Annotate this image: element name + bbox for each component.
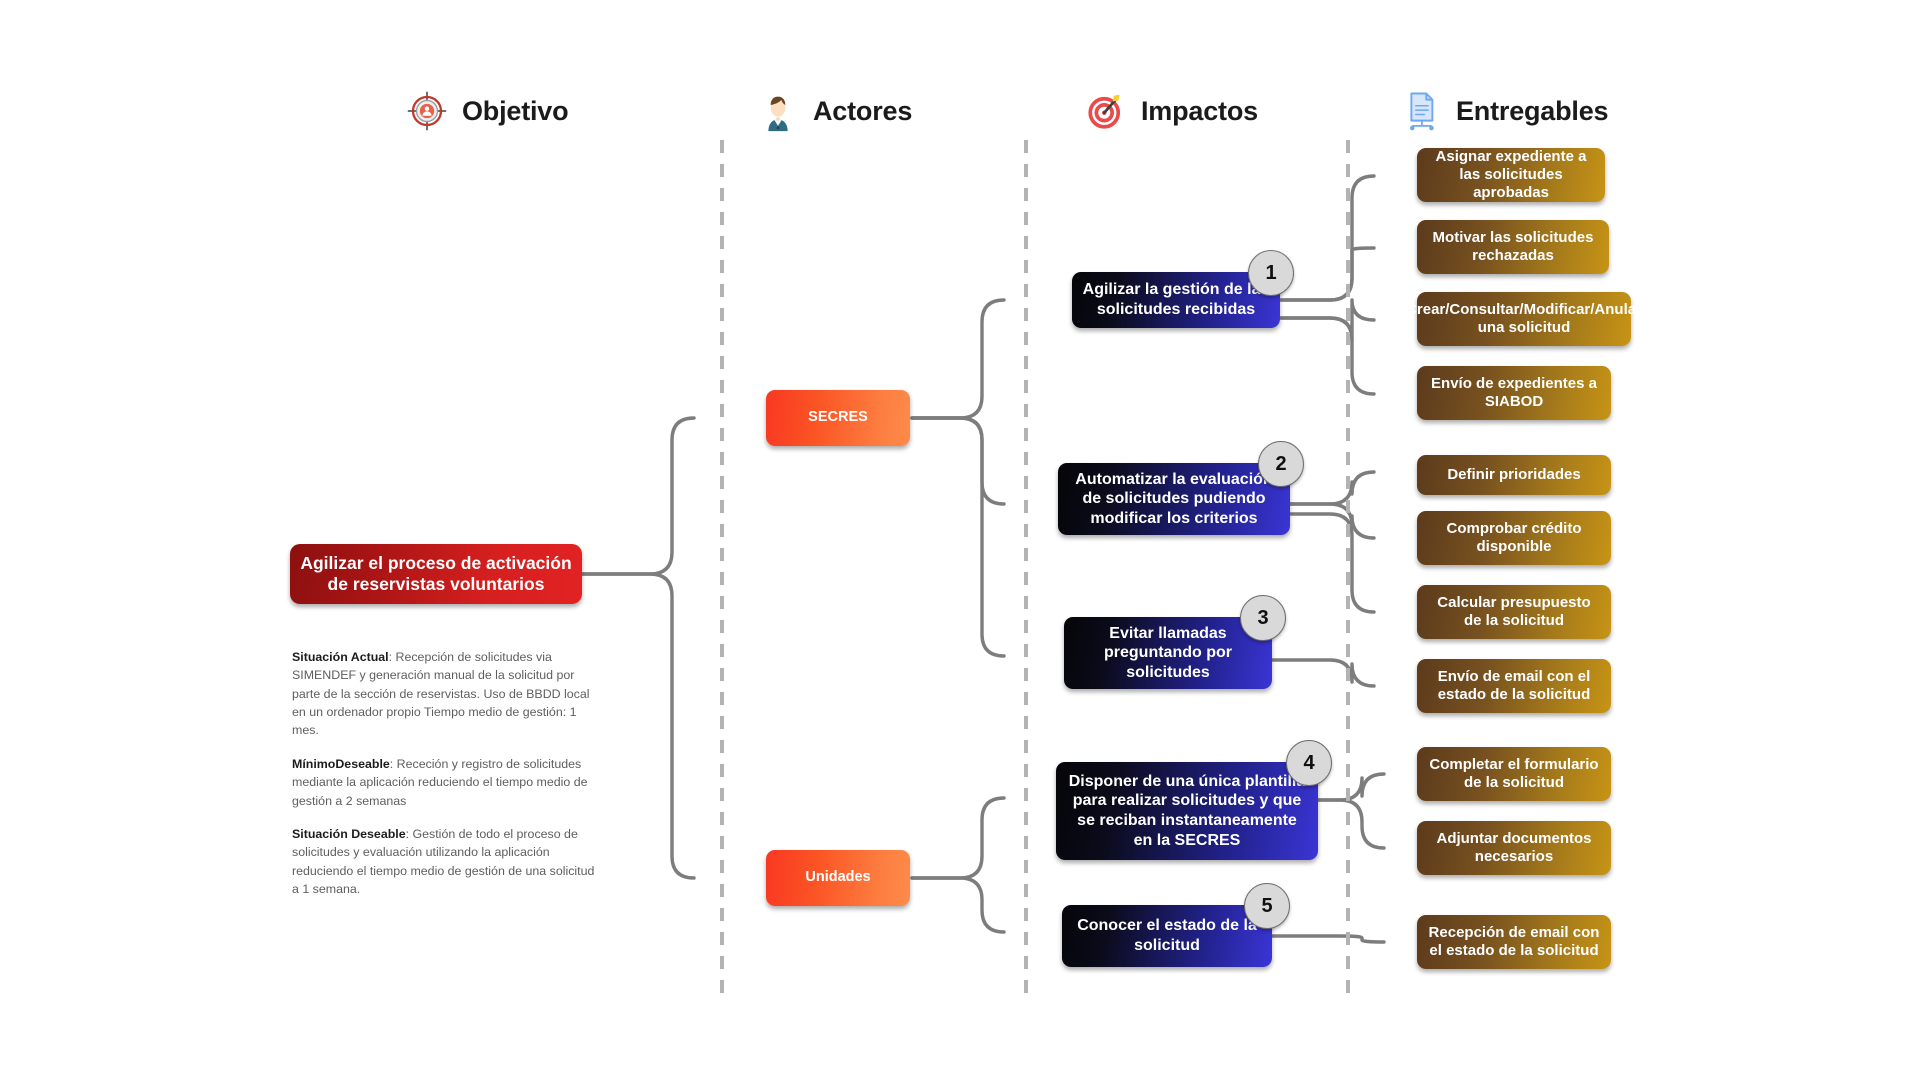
impact-badge-number: 1: [1265, 262, 1276, 285]
wire-impact2-deliv5: [1290, 472, 1374, 504]
deliverable-node-5[interactable]: Definir prioridades: [1417, 455, 1611, 495]
column-header-label: Objetivo: [462, 96, 568, 127]
wire-secres-impact2: [912, 418, 1004, 504]
column-header-impactos: Impactos: [1085, 90, 1258, 132]
deliverable-node-10[interactable]: Adjuntar documentos necesarios: [1417, 821, 1611, 875]
impact-label: Disponer de una única plantilla para rea…: [1066, 772, 1308, 850]
target-person-icon: [406, 90, 448, 132]
deliverable-label: Envío de email con el estado de la solic…: [1427, 668, 1601, 705]
column-header-label: Actores: [813, 96, 912, 127]
goal-note: MínimoDeseable: Receción y registro de s…: [292, 755, 602, 810]
column-header-actores: Actores: [757, 90, 912, 132]
deliverable-label: Calcular presupuesto de la solicitud: [1427, 594, 1601, 631]
impact-label: Agilizar la gestión de las solicitudes r…: [1082, 280, 1270, 319]
wire-impact1-deliv3: [1281, 300, 1374, 340]
wire-impact2-deliv7: [1290, 514, 1374, 612]
wire-impact1-deliv1: [1281, 176, 1374, 300]
target-arrow-icon: [1085, 90, 1127, 132]
wire-secres-impact1: [912, 300, 1004, 418]
wire-impact4-deliv9: [1318, 774, 1384, 800]
impact-badge-1: 1: [1248, 250, 1294, 296]
wire-unidades-impact5: [912, 878, 1004, 932]
goal-note: Situación Actual: Recepción de solicitud…: [292, 648, 602, 740]
column-header-entregables: Entregables: [1400, 90, 1608, 132]
goal-note: Situación Deseable: Gestión de todo el p…: [292, 825, 602, 898]
deliverable-label: Envío de expedientes a SIABOD: [1427, 375, 1601, 412]
goal-description: Situación Actual: Recepción de solicitud…: [292, 648, 602, 898]
wire-impact4-deliv10: [1318, 800, 1384, 848]
goal-label: Agilizar el proceso de activación de res…: [300, 553, 572, 596]
businessman-icon: [757, 90, 799, 132]
deliverable-node-6[interactable]: Comprobar crédito disponible: [1417, 511, 1611, 565]
deliverable-label: Asignar expediente a las solicitudes apr…: [1427, 148, 1595, 203]
deliverable-label: Definir prioridades: [1447, 466, 1580, 484]
column-header-label: Impactos: [1141, 96, 1258, 127]
wire-impact5-deliv11: [1272, 936, 1384, 942]
impact-label: Evitar llamadas preguntando por solicitu…: [1074, 624, 1262, 683]
goal-note-heading: MínimoDeseable: [292, 757, 390, 771]
wire-goal-secres: [580, 418, 694, 574]
impact-badge-4: 4: [1286, 740, 1332, 786]
goal-node[interactable]: Agilizar el proceso de activación de res…: [290, 544, 582, 604]
deliverable-node-7[interactable]: Calcular presupuesto de la solicitud: [1417, 585, 1611, 639]
impact-badge-number: 2: [1275, 453, 1286, 476]
wire-impact1-deliv4: [1281, 318, 1374, 394]
impact-node-3[interactable]: Evitar llamadas preguntando por solicitu…: [1064, 617, 1272, 689]
impact-badge-number: 5: [1261, 895, 1272, 918]
deliverable-label: Crear/Consultar/Modificar/Anular una sol…: [1406, 301, 1642, 338]
wire-impact2-deliv6: [1290, 504, 1374, 538]
deliverable-node-4[interactable]: Envío de expedientes a SIABOD: [1417, 366, 1611, 420]
deliverable-node-8[interactable]: Envío de email con el estado de la solic…: [1417, 659, 1611, 713]
deliverable-label: Motivar las solicitudes rechazadas: [1427, 229, 1599, 266]
connector-layer: [0, 0, 1920, 1080]
impact-node-2[interactable]: Automatizar la evaluación de solicitudes…: [1058, 463, 1290, 535]
impact-node-5[interactable]: Conocer el estado de la solicitud: [1062, 905, 1272, 967]
deliverable-label: Adjuntar documentos necesarios: [1427, 830, 1601, 867]
impact-label: Automatizar la evaluación de solicitudes…: [1068, 470, 1280, 529]
deliverable-node-11[interactable]: Recepción de email con el estado de la s…: [1417, 915, 1611, 969]
wire-secres-impact3: [912, 418, 1004, 656]
impact-badge-number: 3: [1257, 607, 1268, 630]
impact-badge-number: 4: [1303, 752, 1314, 775]
wire-impact1-deliv2: [1281, 248, 1374, 300]
impact-label: Conocer el estado de la solicitud: [1072, 916, 1262, 955]
deliverable-node-2[interactable]: Motivar las solicitudes rechazadas: [1417, 220, 1609, 274]
actor-label: Unidades: [805, 869, 870, 887]
actor-label: SECRES: [808, 409, 868, 427]
deliverable-node-1[interactable]: Asignar expediente a las solicitudes apr…: [1417, 148, 1605, 202]
actor-node-secres[interactable]: SECRES: [766, 390, 910, 446]
column-header-label: Entregables: [1456, 96, 1608, 127]
deliverable-label: Recepción de email con el estado de la s…: [1427, 924, 1601, 961]
goal-note-heading: Situación Actual: [292, 650, 389, 664]
wire-impact3-deliv8: [1272, 660, 1374, 686]
wire-unidades-impact4: [912, 798, 1004, 878]
column-header-objetivo: Objetivo: [406, 90, 568, 132]
impact-badge-5: 5: [1244, 883, 1290, 929]
goal-note-heading: Situación Deseable: [292, 827, 406, 841]
impact-map-canvas: Objetivo Actores Impactos: [0, 0, 1920, 1080]
deliverable-node-3[interactable]: Crear/Consultar/Modificar/Anular una sol…: [1417, 292, 1631, 346]
actor-node-unidades[interactable]: Unidades: [766, 850, 910, 906]
deliverable-label: Completar el formulario de la solicitud: [1427, 756, 1601, 793]
document-network-icon: [1400, 90, 1442, 132]
impact-node-4[interactable]: Disponer de una única plantilla para rea…: [1056, 762, 1318, 860]
impact-badge-2: 2: [1258, 441, 1304, 487]
deliverable-label: Comprobar crédito disponible: [1427, 520, 1601, 557]
impact-badge-3: 3: [1240, 595, 1286, 641]
deliverable-node-9[interactable]: Completar el formulario de la solicitud: [1417, 747, 1611, 801]
